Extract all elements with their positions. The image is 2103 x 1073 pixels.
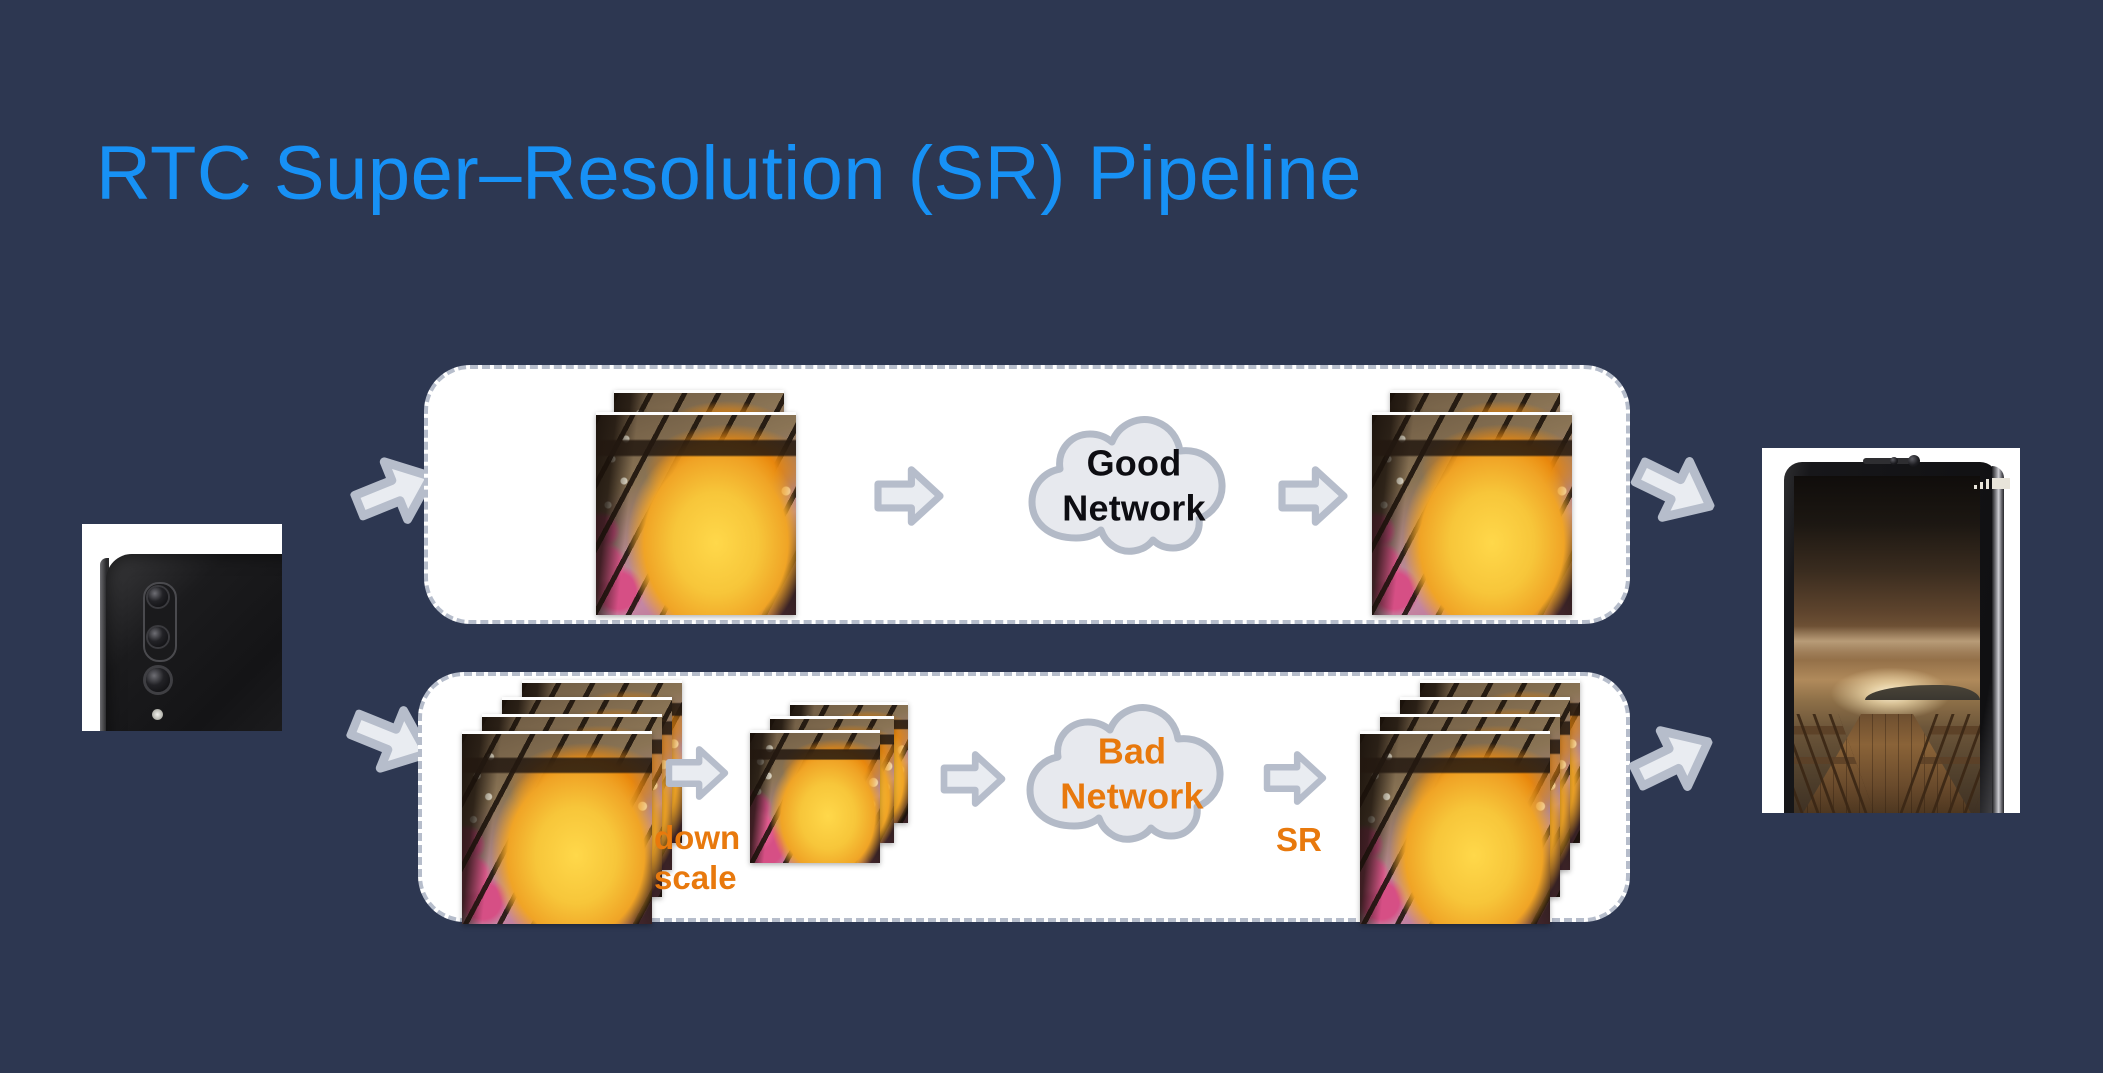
phone-back (106, 554, 282, 731)
sensor-icon (1890, 457, 1898, 465)
capture-phone-photo (82, 524, 282, 731)
sr-frames-out-bad (1360, 680, 1580, 895)
hr-frames-in-bad (462, 680, 682, 895)
camera-flash-icon (152, 709, 163, 720)
arrow-to-bad-network-icon (938, 750, 1008, 808)
phone-screen (1794, 476, 1980, 813)
arrow-sr-icon (1262, 750, 1328, 806)
playback-phone-photo (1762, 448, 2020, 813)
camera-lens-icon (146, 668, 170, 692)
camera-lens-icon (148, 587, 168, 607)
hr-frames-in-good (596, 390, 796, 590)
arrow-from-good-network-icon (1276, 465, 1350, 527)
hr-frames-out-good (1372, 390, 1572, 590)
frame-1 (1360, 731, 1550, 924)
downscale-caption: down scale (654, 818, 740, 897)
frame-1 (462, 731, 652, 924)
horizon-hills (1865, 685, 1980, 700)
camera-lens-icon (148, 627, 168, 647)
good-network-cloud: Good Network (1022, 412, 1246, 560)
status-bar (1974, 478, 2010, 489)
signal-bar-icon (1986, 479, 1989, 489)
exit-arrow-bad-icon (1617, 705, 1728, 813)
exit-arrow-good-icon (1619, 435, 1730, 543)
lr-frames-bad (750, 702, 910, 862)
frame-front (596, 412, 796, 615)
frame-front (1372, 412, 1572, 615)
sky-cloud-band (1794, 626, 1980, 660)
signal-bar-icon (1974, 485, 1977, 489)
signal-bar-icon (1980, 482, 1983, 489)
page-title: RTC Super–Resolution (SR) Pipeline (96, 130, 1362, 217)
frame-1 (750, 730, 880, 863)
sr-caption: SR (1276, 820, 1322, 860)
arrow-downscale-icon (664, 745, 730, 801)
bad-network-cloud: Bad Network (1020, 700, 1244, 848)
front-camera-icon (1908, 455, 1920, 467)
phone-side-frame (1992, 466, 2004, 813)
arrow-to-good-network-icon (872, 465, 946, 527)
battery-icon (1992, 478, 2010, 489)
